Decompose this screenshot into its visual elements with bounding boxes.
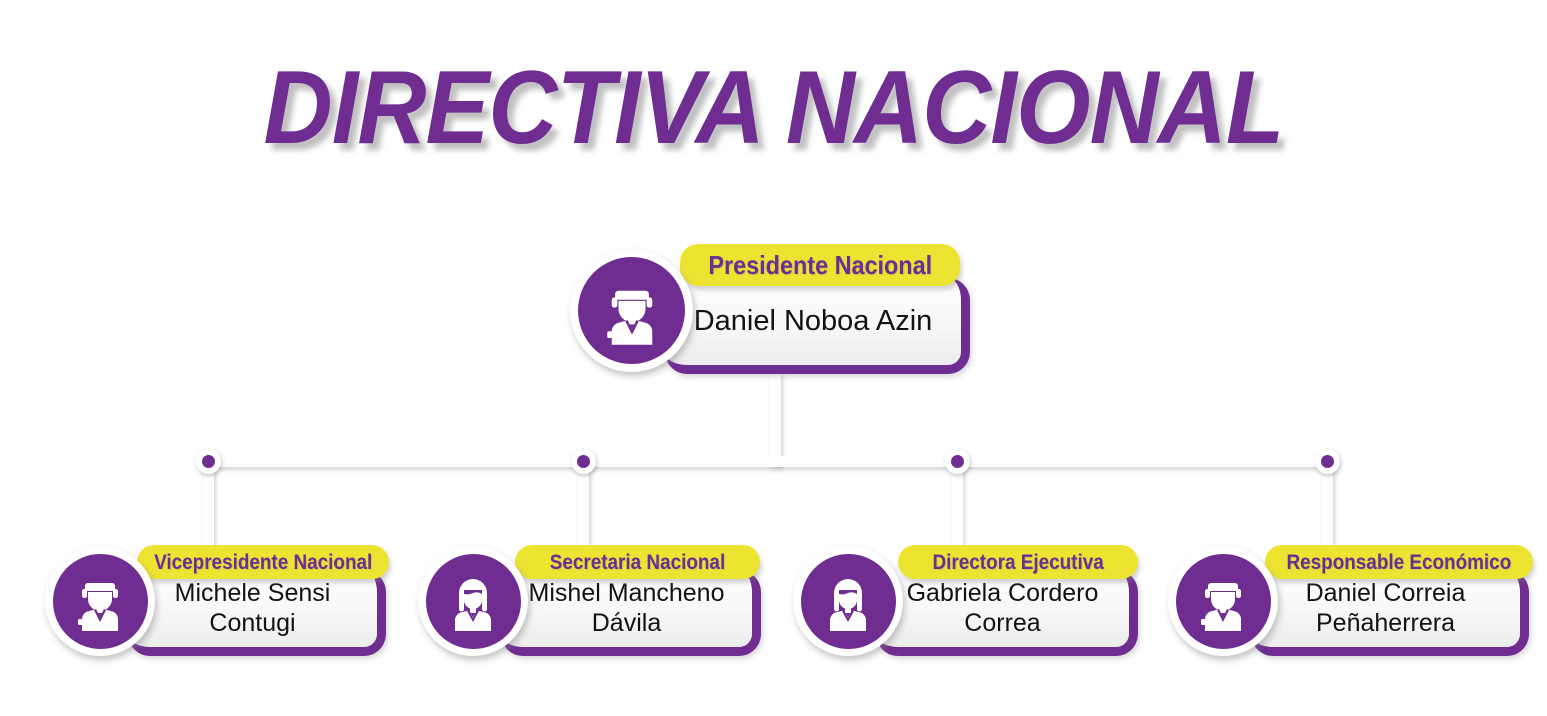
org-node-president[interactable]: Presidente Nacional Daniel Noboa Azin <box>560 240 980 380</box>
role-badge-vicepresident: Vicepresidente Nacional <box>137 545 389 579</box>
junction-dot-1 <box>196 449 221 474</box>
role-badge-executive-director: Directora Ejecutiva <box>898 545 1138 579</box>
connector-trunk-vertical <box>770 370 781 466</box>
role-label: Responsable Económico <box>1287 552 1512 573</box>
avatar-president <box>570 249 693 372</box>
org-node-executive-director[interactable]: Directora Ejecutiva Gabriela Cordero Cor… <box>790 542 1140 667</box>
role-badge-president: Presidente Nacional <box>680 244 960 286</box>
person-male-headset-icon <box>1191 569 1255 633</box>
avatar-executive-director <box>793 546 903 656</box>
role-label: Presidente Nacional <box>708 252 932 278</box>
junction-dot-2 <box>571 449 596 474</box>
role-badge-secretary: Secretaria Nacional <box>515 545 760 579</box>
person-name: Gabriela Cordero Correa <box>876 579 1129 638</box>
connector-horizontal-bus <box>208 456 1328 467</box>
person-name: Michele Sensi Contugi <box>128 579 377 638</box>
role-label: Directora Ejecutiva <box>932 552 1103 573</box>
person-male-headset-icon <box>596 275 668 347</box>
name-card-executive-director: Gabriela Cordero Correa <box>876 570 1138 656</box>
person-name: Daniel Noboa Azin <box>684 304 943 338</box>
org-node-finance-officer[interactable]: Responsable Económico Daniel Correia Peñ… <box>1165 542 1535 667</box>
avatar-vicepresident <box>45 546 155 656</box>
person-name: Mishel Mancheno Dávila <box>501 579 752 638</box>
person-female-headset-icon <box>816 569 880 633</box>
name-card-finance-officer: Daniel Correia Peñaherrera <box>1251 570 1529 656</box>
org-node-secretary[interactable]: Secretaria Nacional Mishel Mancheno Dávi… <box>415 542 765 667</box>
role-label: Secretaria Nacional <box>550 552 725 573</box>
role-label: Vicepresidente Nacional <box>154 552 372 573</box>
name-card-president: Daniel Noboa Azin <box>665 278 970 374</box>
person-name: Daniel Correia Peñaherrera <box>1251 579 1520 638</box>
page-title: DIRECTIVA NACIONAL <box>62 52 1485 164</box>
name-card-secretary: Mishel Mancheno Dávila <box>501 570 761 656</box>
junction-dot-3 <box>945 449 970 474</box>
junction-dot-4 <box>1315 449 1340 474</box>
name-card-vicepresident: Michele Sensi Contugi <box>128 570 386 656</box>
avatar-secretary <box>418 546 528 656</box>
person-male-headset-icon <box>68 569 132 633</box>
person-female-headset-icon <box>441 569 505 633</box>
org-node-vicepresident[interactable]: Vicepresidente Nacional Michele Sensi Co… <box>42 542 392 667</box>
avatar-finance-officer <box>1168 546 1278 656</box>
role-badge-finance-officer: Responsable Económico <box>1265 545 1533 579</box>
